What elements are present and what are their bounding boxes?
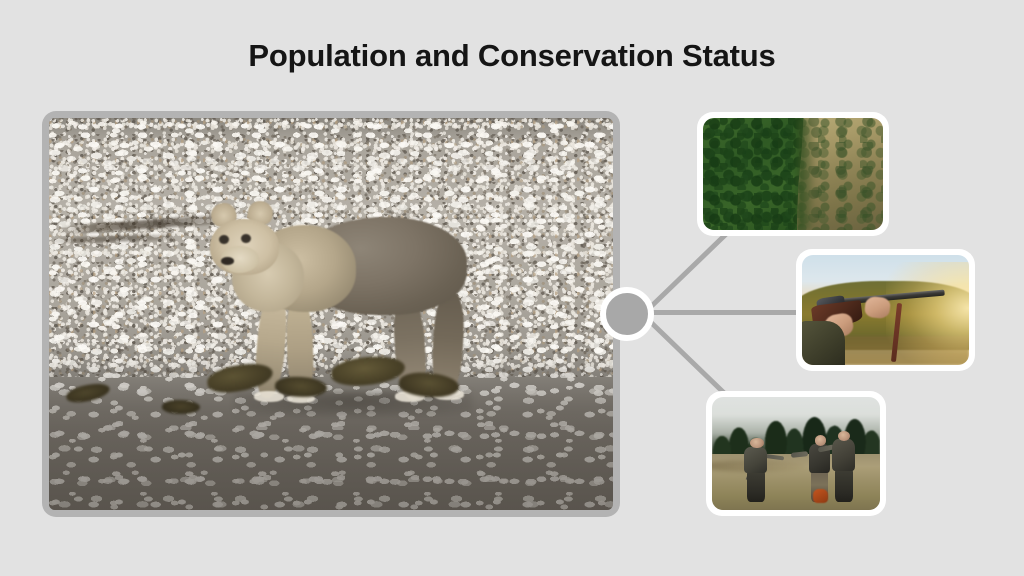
bear-paw <box>254 391 284 401</box>
connector-to-hunting <box>652 310 800 315</box>
hunter-figure-left <box>742 438 779 501</box>
thumbnail-hunters-handshake[interactable] <box>706 391 886 516</box>
thumbnail-hunter-rifle[interactable] <box>796 249 975 371</box>
hunter-head <box>815 435 826 445</box>
brown-bear-photo <box>49 118 613 510</box>
hunter-rifle-photo <box>802 255 969 365</box>
hunter-head <box>750 438 763 449</box>
forest-clearing-edge <box>797 118 815 230</box>
hunter-sleeve <box>802 321 845 365</box>
slide: Population and Conservation Status <box>0 0 1024 576</box>
connector-hub[interactable] <box>600 287 654 341</box>
hunter-torso <box>744 447 767 474</box>
page-title: Population and Conservation Status <box>0 38 1024 74</box>
deforestation-photo <box>703 118 883 230</box>
hunters-handshake-photo <box>712 397 880 510</box>
thumbnail-deforestation[interactable] <box>697 112 889 236</box>
forest-area <box>703 118 807 230</box>
bear-nose <box>221 257 234 264</box>
hunter-legs <box>835 469 853 501</box>
hunter-torso <box>832 439 855 471</box>
hunter-figure-right <box>830 431 865 501</box>
orange-marker <box>813 489 828 504</box>
hunter-legs <box>747 471 765 501</box>
main-image-frame[interactable] <box>42 111 620 517</box>
